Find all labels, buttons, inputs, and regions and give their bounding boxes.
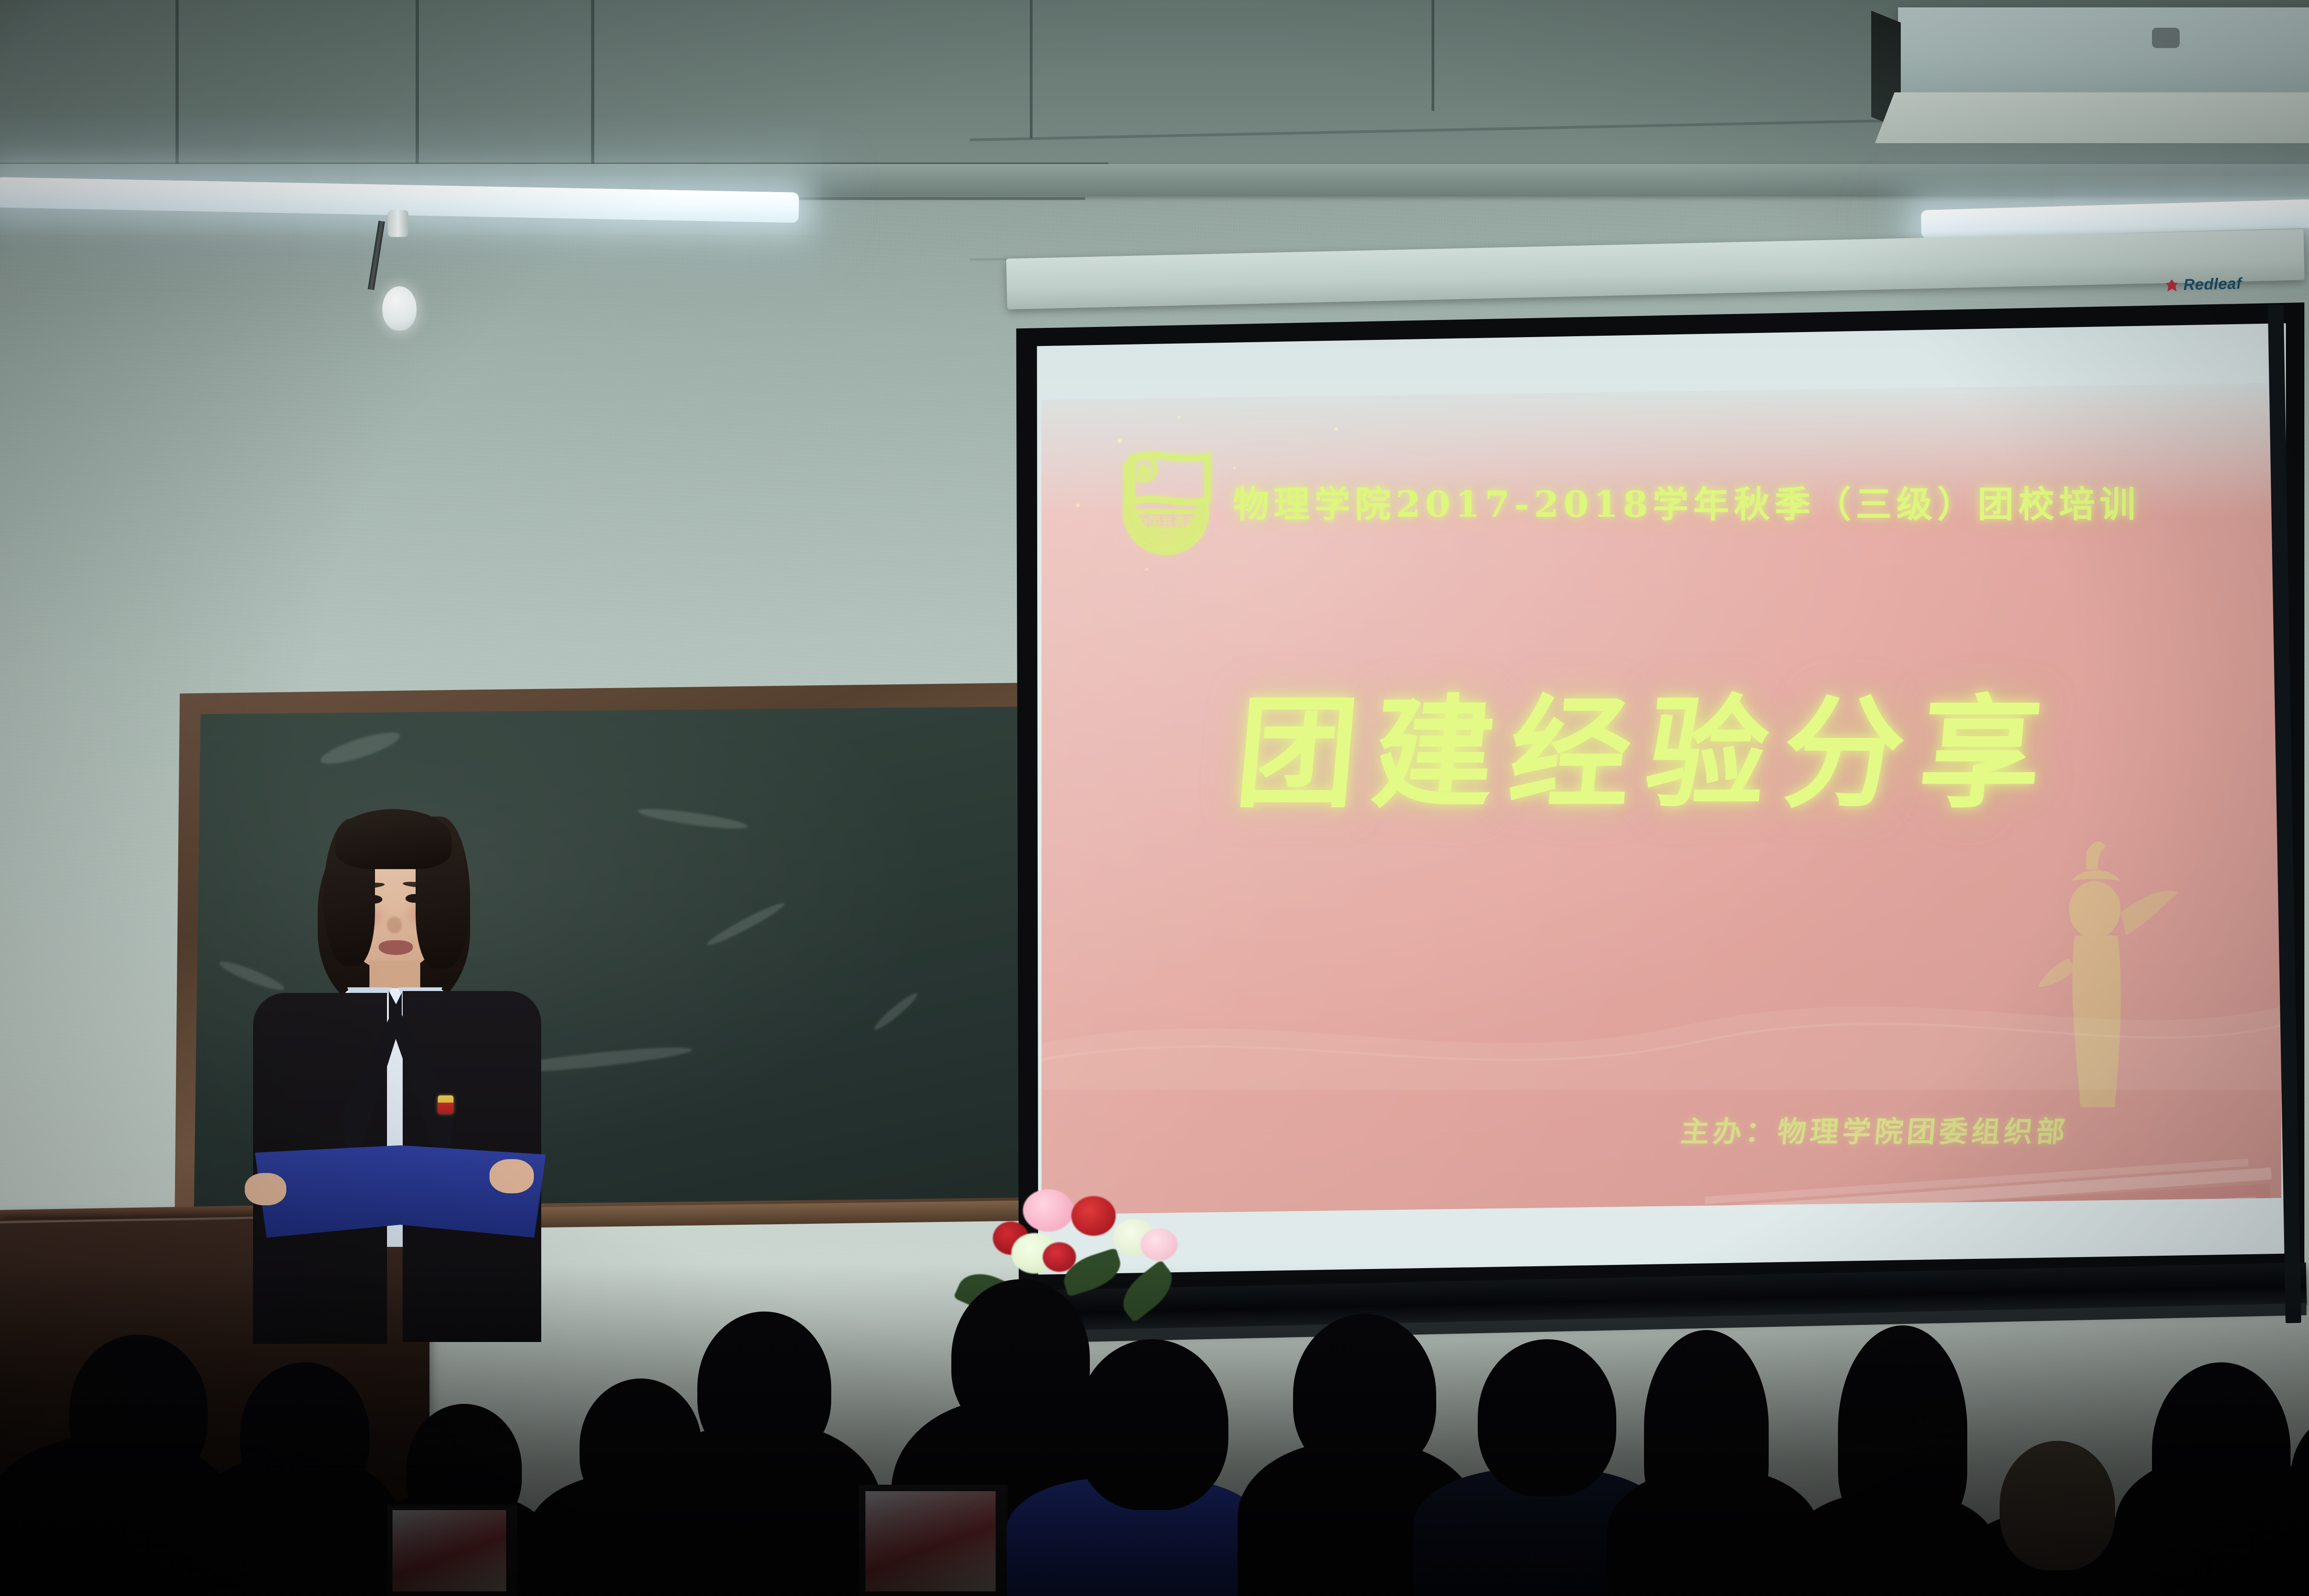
projector-mount-plate [1875, 92, 2309, 143]
slide-wave-decoration [1039, 937, 2281, 1090]
slide-sparkle [1178, 416, 1181, 419]
presenter-hair-top [335, 809, 452, 869]
flower-rose-pink [1023, 1189, 1074, 1232]
ceiling-seam [591, 0, 594, 165]
slide-header-text: 物理学院2017-2018学年秋季（三级）团校培训 [1233, 476, 2140, 527]
slide-title-text: 团建经验分享 [1230, 656, 2065, 831]
screen-brand-logo: Redleaf [2166, 275, 2242, 295]
presenter-hand-left [245, 1173, 286, 1205]
laptop[interactable] [859, 1485, 1008, 1596]
laptop-screen [865, 1491, 996, 1591]
audience-head [1076, 1339, 1228, 1510]
slide-sparkle [1335, 427, 1338, 430]
presenter-hand-right [490, 1159, 534, 1193]
svg-text:中国共青团: 中国共青团 [1136, 515, 1199, 530]
classroom-presentation-photo: Redleaf 中国共青团 物理学院2017-201 [0, 0, 2309, 1596]
slide-sparkle [1233, 466, 1236, 469]
laptop-screen [393, 1510, 506, 1591]
audience-head [240, 1362, 369, 1505]
ceiling-seam [1030, 0, 1033, 139]
pendant-bulb-icon [382, 286, 417, 331]
audience-head [1644, 1330, 1769, 1524]
presenter-lapel-badge [438, 1095, 453, 1114]
presenter-nose [387, 917, 402, 933]
ceiling-projector [1898, 7, 2309, 98]
audience-head [0, 1452, 125, 1591]
ceiling-seam [416, 0, 419, 167]
ceiling-seam [1432, 0, 1434, 111]
communist-youth-league-emblem: 中国共青团 [1108, 442, 1224, 567]
ceiling-seam [175, 0, 179, 166]
audience-head [1478, 1339, 1616, 1496]
projector-lens-icon [2152, 28, 2180, 48]
slide-host-text: 主办：物理学院团委组织部 [1679, 1108, 2071, 1150]
presenter-mouth [379, 940, 413, 955]
audience-head [2000, 1441, 2115, 1570]
slide-sparkle [1076, 503, 1080, 507]
flower-rose-red [1043, 1242, 1076, 1272]
audience-head [951, 1279, 1090, 1436]
red-leaf-icon [2166, 279, 2178, 292]
audience-head [697, 1312, 831, 1464]
lamp-collar [388, 210, 408, 237]
audience-head [2152, 1362, 2291, 1538]
screen-brand-label: Redleaf [2183, 275, 2242, 294]
flower-rose-pink [1141, 1228, 1178, 1261]
audience-head [1293, 1314, 1436, 1475]
slide-sparkle [1145, 568, 1148, 571]
flower-rose-red [1071, 1196, 1116, 1236]
laptop[interactable] [387, 1505, 517, 1596]
projected-slide: 中国共青团 物理学院2017-2018学年秋季（三级）团校培训 团建经验分享 主… [1039, 383, 2281, 1215]
audience-head [1838, 1325, 1967, 1533]
